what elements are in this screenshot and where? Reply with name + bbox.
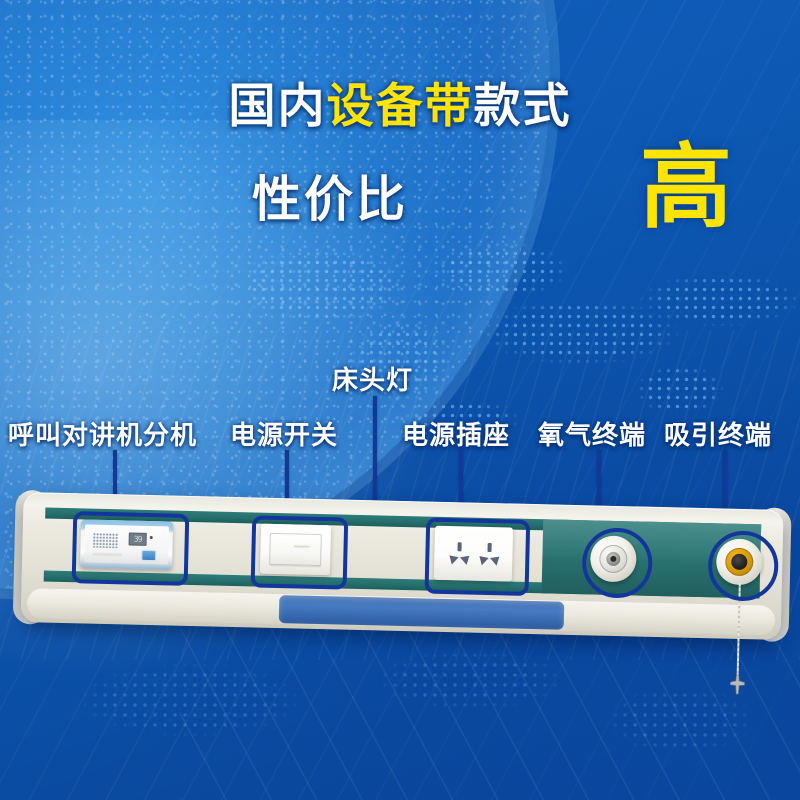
socket-outlet-1[interactable]: [446, 542, 473, 567]
socket-pin-left-icon: [476, 552, 489, 565]
callout-label-bed-lamp: 床头灯: [332, 360, 413, 397]
headline-part-2: 设备带: [327, 79, 474, 132]
headline-part-3: 款式: [474, 79, 572, 132]
intercom-indicator-dot: [150, 536, 153, 539]
nurse-call-intercom-unit[interactable]: 39: [80, 519, 173, 569]
callout-label-suction: 吸引终端: [664, 415, 772, 452]
rocker-notch: [294, 545, 310, 547]
callout-label-power-switch: 电源开关: [230, 415, 338, 452]
promo-image: 国内设备带款式 性价比 高 呼叫对讲机分机 电源开关 床头灯 电源插座 氧气终端…: [0, 0, 800, 800]
socket-pin-left-icon: [446, 552, 459, 565]
headline-emphasis: 高: [640, 142, 732, 234]
headline-line-1: 国内设备带款式: [0, 82, 800, 129]
headline-block: 国内设备带款式 性价比: [0, 82, 800, 129]
headline-part-1: 国内: [229, 79, 327, 132]
oxygen-terminal-port: [606, 552, 620, 566]
rocker-paddle[interactable]: [269, 533, 322, 566]
intercom-faceplate: 39: [84, 524, 169, 564]
socket-pin-vertical-icon: [487, 543, 491, 552]
speaker-grille-icon: [92, 533, 118, 549]
socket-pin-right-icon: [490, 553, 503, 566]
intercom-call-button[interactable]: [141, 550, 156, 561]
intercom-display-value: 39: [130, 534, 146, 545]
power-socket-unit[interactable]: [434, 526, 513, 582]
socket-pin-right-icon: [460, 552, 473, 565]
pull-cord-handle-icon[interactable]: [725, 673, 750, 698]
callout-label-oxygen: 氧气终端: [538, 415, 646, 452]
suction-terminal-port: [731, 554, 747, 570]
intercom-display: 39: [129, 533, 147, 546]
socket-pin-vertical-icon: [457, 542, 461, 551]
socket-outlet-2[interactable]: [476, 543, 503, 568]
intercom-label-bar: [92, 553, 122, 557]
headline-subtitle: 性价比: [252, 160, 408, 231]
bed-head-unit-panel: 39: [20, 492, 783, 660]
oxygen-terminal-bore: [610, 556, 616, 562]
power-switch-unit[interactable]: [260, 524, 331, 576]
callout-label-power-socket: 电源插座: [402, 415, 510, 452]
callout-label-intercom: 呼叫对讲机分机: [8, 415, 197, 452]
halftone-world-map-bottom: [40, 640, 780, 800]
panel-body: 39: [21, 492, 784, 640]
